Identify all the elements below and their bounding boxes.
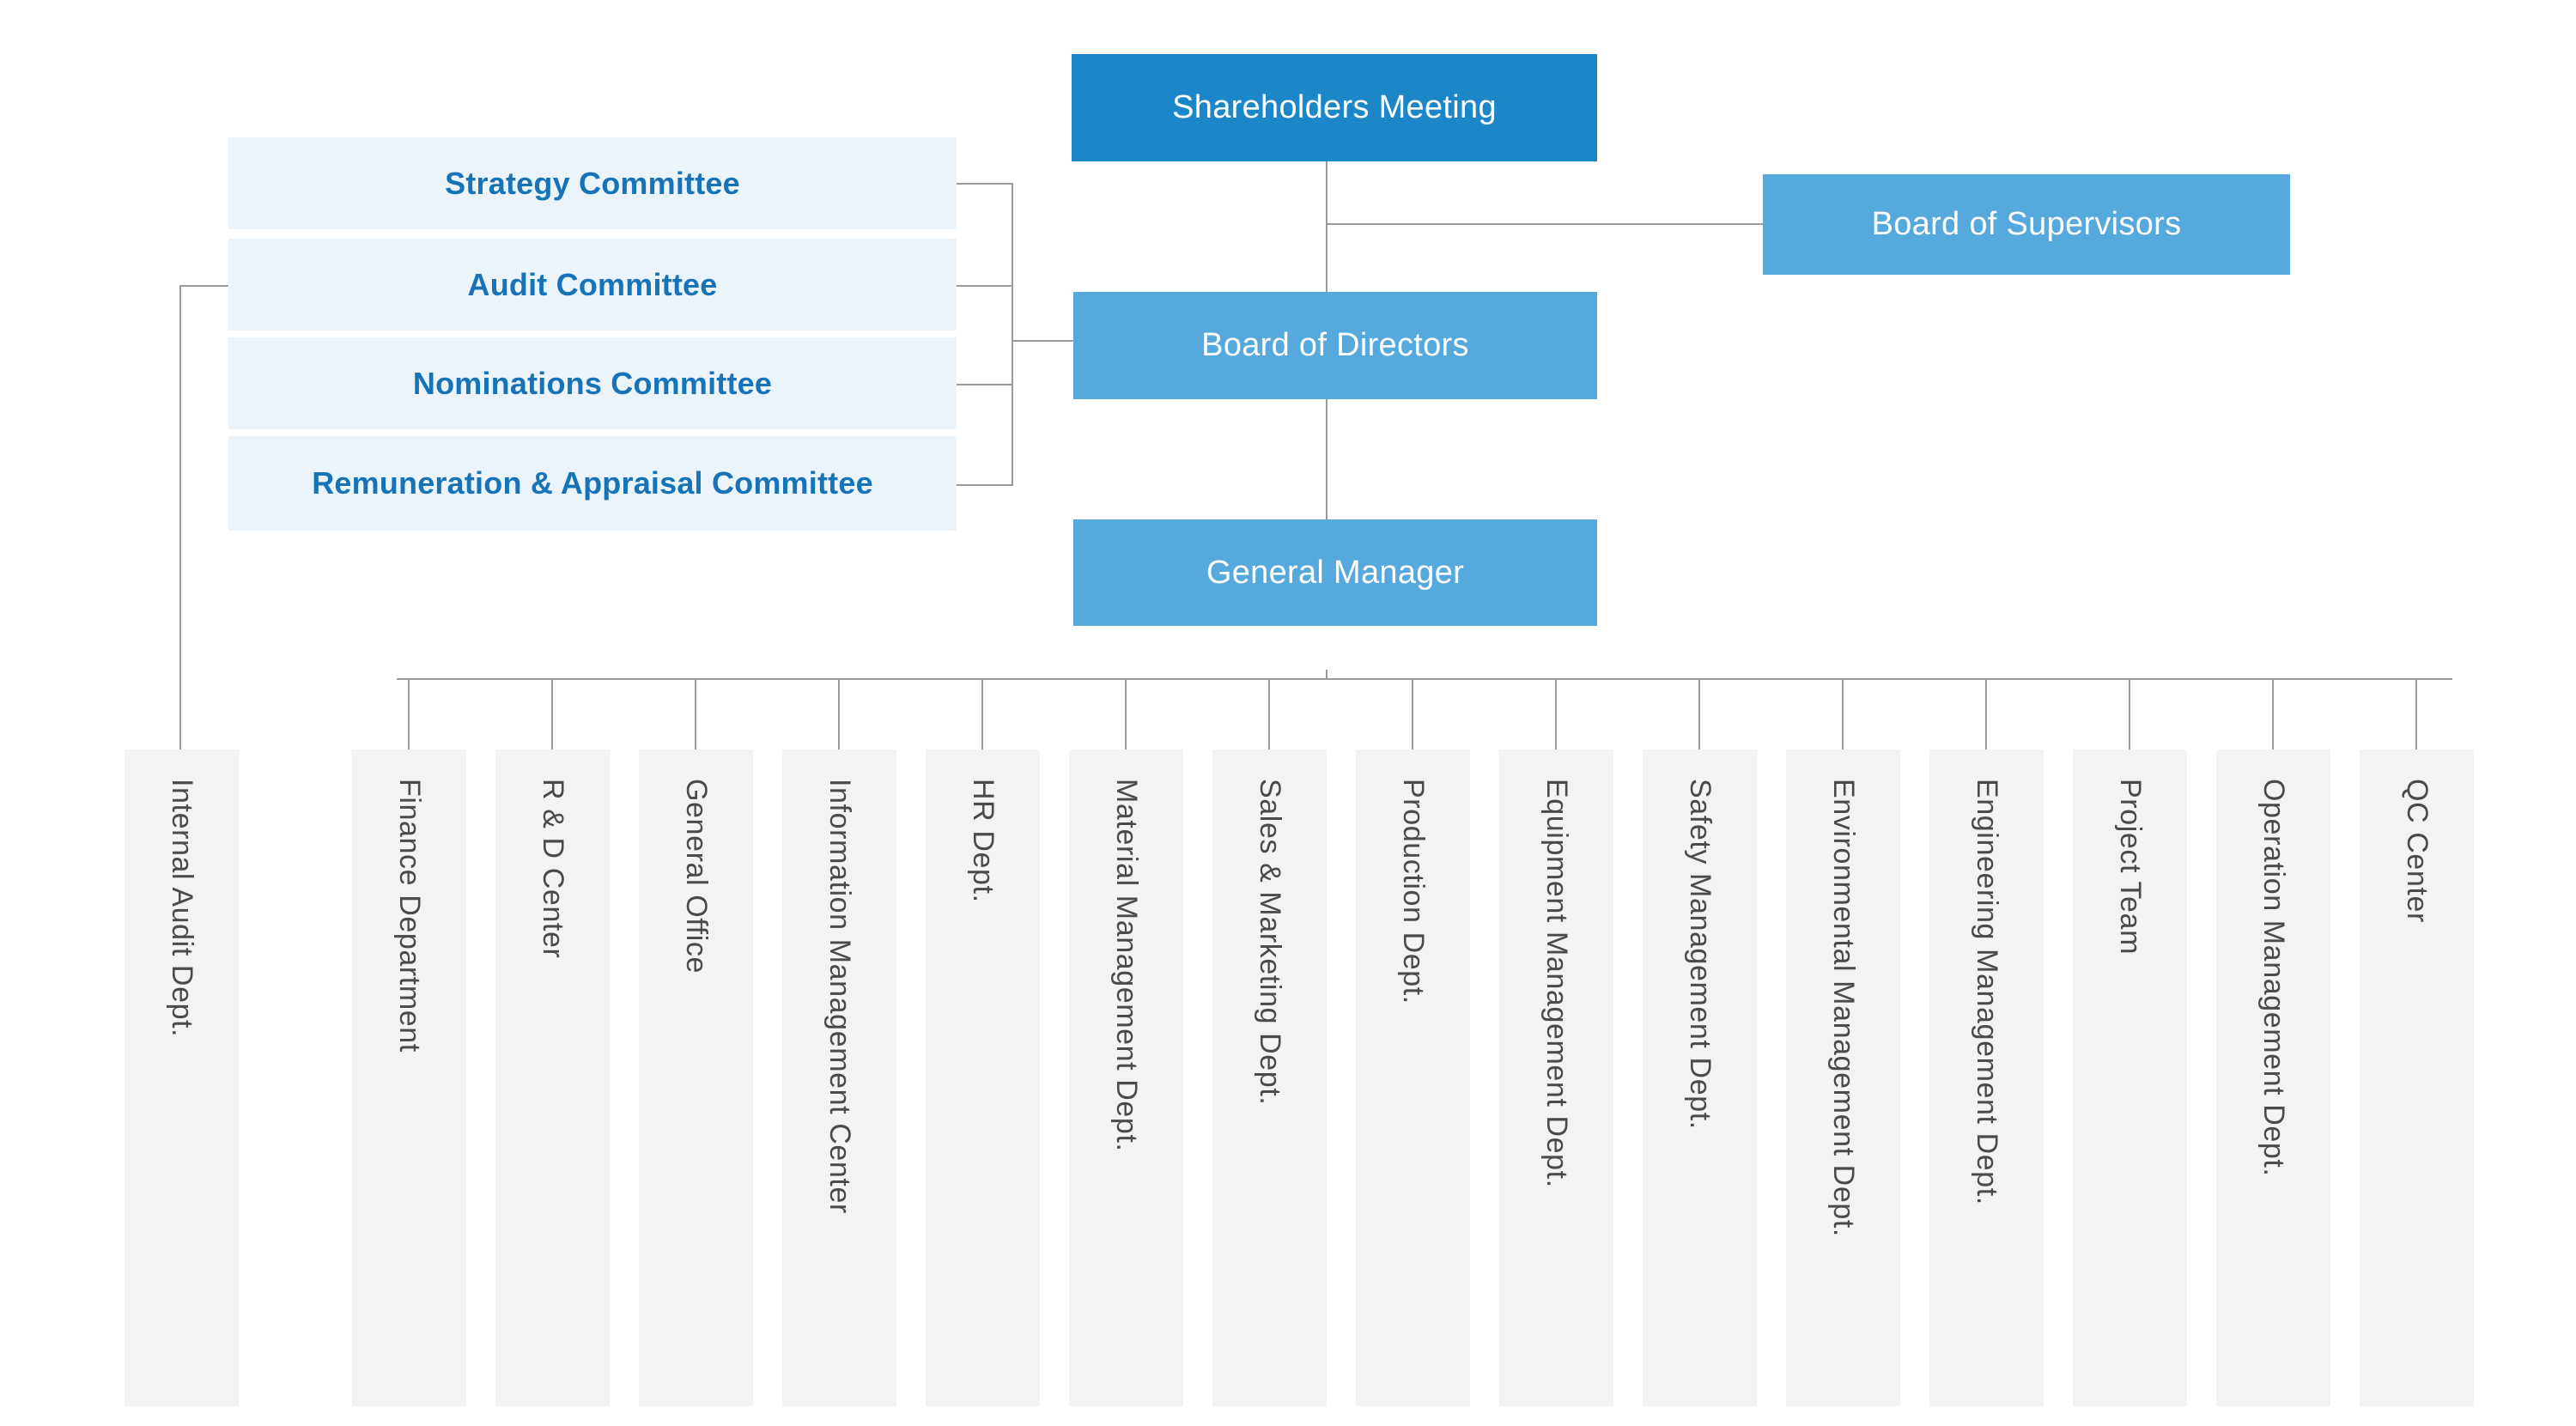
- strategy-committee-label: Strategy Committee: [445, 166, 740, 202]
- node-equipment-management-dept[interactable]: Equipment Management Dept.: [1499, 749, 1613, 1406]
- board-of-directors-label: Board of Directors: [1201, 327, 1469, 364]
- connector-department-bus: [397, 678, 2452, 680]
- node-material-management-dept[interactable]: Material Management Dept.: [1069, 749, 1183, 1406]
- finance-department-label: Finance Department: [395, 779, 424, 1053]
- connector-drop-engineering-management-dept: [1985, 678, 1987, 749]
- engineering-management-dept-label: Engineering Management Dept.: [1972, 779, 2002, 1205]
- connector-drop-finance-department: [408, 678, 410, 749]
- node-general-office[interactable]: General Office: [639, 749, 753, 1406]
- org-chart-canvas: Shareholders Meeting Board of Supervisor…: [0, 0, 2576, 1426]
- connector-arm-audit-committee: [956, 285, 1013, 287]
- node-board-of-directors[interactable]: Board of Directors: [1073, 292, 1597, 399]
- connector-drop-rd-center: [551, 678, 553, 749]
- connector-drop-project-team: [2129, 678, 2130, 749]
- hr-dept-label: HR Dept.: [969, 779, 998, 903]
- operation-management-dept-label: Operation Management Dept.: [2259, 779, 2288, 1177]
- node-nominations-committee[interactable]: Nominations Committee: [228, 337, 957, 429]
- rd-center-label: R & D Center: [538, 779, 568, 958]
- connector-shareholders-to-directors: [1326, 161, 1327, 292]
- general-office-label: General Office: [682, 779, 711, 974]
- node-safety-management-dept[interactable]: Safety Management Dept.: [1643, 749, 1757, 1406]
- information-management-center-label: Information Management Center: [825, 779, 854, 1214]
- project-team-label: Project Team: [2116, 779, 2145, 955]
- connector-committee-to-directors: [1012, 340, 1073, 342]
- board-of-supervisors-label: Board of Supervisors: [1872, 206, 2182, 243]
- node-shareholders-meeting[interactable]: Shareholders Meeting: [1072, 54, 1597, 161]
- node-sales-marketing-dept[interactable]: Sales & Marketing Dept.: [1212, 749, 1327, 1406]
- connector-arm-remuneration-committee: [956, 484, 1013, 486]
- node-rd-center[interactable]: R & D Center: [495, 749, 610, 1406]
- connector-drop-qc-center: [2415, 678, 2417, 749]
- connector-drop-hr-dept: [981, 678, 983, 749]
- qc-center-label: QC Center: [2403, 779, 2432, 923]
- connector-drop-material-management-dept: [1125, 678, 1127, 749]
- nominations-committee-label: Nominations Committee: [413, 366, 772, 402]
- connector-arm-strategy-committee: [956, 183, 1013, 185]
- connector-drop-general-office: [695, 678, 696, 749]
- node-environmental-management-dept[interactable]: Environmental Management Dept.: [1786, 749, 1900, 1406]
- connector-drop-information-management-center: [838, 678, 840, 749]
- node-hr-dept[interactable]: HR Dept.: [926, 749, 1040, 1406]
- connector-drop-production-dept: [1412, 678, 1413, 749]
- connector-drop-environmental-management-dept: [1842, 678, 1844, 749]
- node-remuneration-appraisal-committee[interactable]: Remuneration & Appraisal Committee: [228, 436, 957, 531]
- connector-audit-committee-stub: [179, 285, 229, 287]
- connector-committee-spine: [1012, 183, 1013, 485]
- node-operation-management-dept[interactable]: Operation Management Dept.: [2216, 749, 2330, 1406]
- node-board-of-supervisors[interactable]: Board of Supervisors: [1763, 174, 2290, 275]
- production-dept-label: Production Dept.: [1399, 779, 1428, 1004]
- node-internal-audit-dept[interactable]: Internal Audit Dept.: [125, 749, 239, 1406]
- remuneration-appraisal-committee-label: Remuneration & Appraisal Committee: [312, 465, 873, 501]
- connector-drop-equipment-management-dept: [1555, 678, 1557, 749]
- node-strategy-committee[interactable]: Strategy Committee: [228, 137, 957, 229]
- internal-audit-dept-label: Internal Audit Dept.: [167, 779, 197, 1037]
- connector-drop-operation-management-dept: [2272, 678, 2274, 749]
- environmental-management-dept-label: Environmental Management Dept.: [1829, 779, 1858, 1237]
- node-finance-department[interactable]: Finance Department: [352, 749, 466, 1406]
- audit-committee-label: Audit Committee: [468, 267, 718, 303]
- material-management-dept-label: Material Management Dept.: [1112, 779, 1141, 1152]
- node-project-team[interactable]: Project Team: [2073, 749, 2187, 1406]
- sales-marketing-dept-label: Sales & Marketing Dept.: [1255, 779, 1285, 1105]
- node-production-dept[interactable]: Production Dept.: [1356, 749, 1470, 1406]
- connector-shareholders-to-supervisors: [1326, 223, 1764, 225]
- node-qc-center[interactable]: QC Center: [2360, 749, 2474, 1406]
- general-manager-label: General Manager: [1206, 555, 1464, 592]
- connector-audit-to-internal-audit: [179, 285, 181, 749]
- node-general-manager[interactable]: General Manager: [1073, 519, 1597, 626]
- node-audit-committee[interactable]: Audit Committee: [228, 239, 957, 331]
- node-engineering-management-dept[interactable]: Engineering Management Dept.: [1929, 749, 2044, 1406]
- equipment-management-dept-label: Equipment Management Dept.: [1542, 779, 1571, 1188]
- connector-drop-safety-management-dept: [1698, 678, 1700, 749]
- shareholders-meeting-label: Shareholders Meeting: [1172, 89, 1497, 126]
- connector-directors-to-gm: [1326, 399, 1327, 519]
- safety-management-dept-label: Safety Management Dept.: [1686, 779, 1715, 1130]
- node-information-management-center[interactable]: Information Management Center: [782, 749, 896, 1406]
- connector-arm-nominations-committee: [956, 384, 1013, 385]
- connector-drop-sales-marketing-dept: [1268, 678, 1270, 749]
